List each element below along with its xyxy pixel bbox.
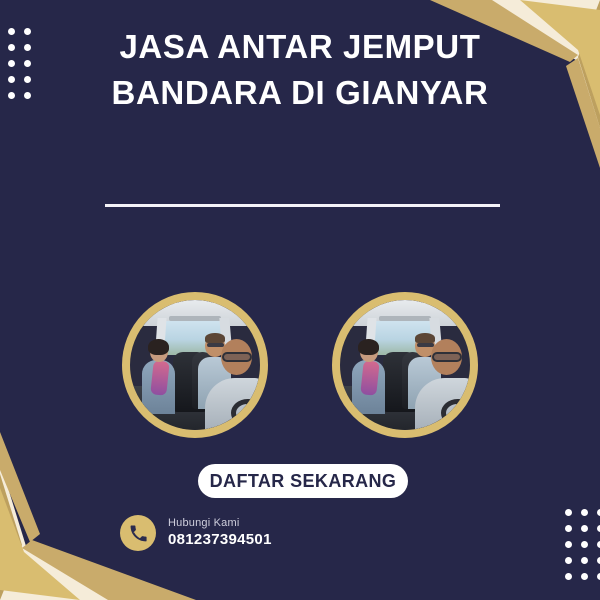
ribbon-bottom-left-gold-dark — [0, 474, 22, 600]
passenger-man-glasses — [207, 343, 224, 347]
dot — [565, 541, 572, 548]
passenger-woman-hair — [358, 339, 379, 355]
dot — [565, 573, 572, 580]
contact-text: Hubungi Kami 081237394501 — [168, 517, 272, 550]
steering-wheel — [231, 399, 260, 428]
photo-circle-left — [122, 292, 268, 438]
dot — [565, 557, 572, 564]
ribbon-top-right-gold-light — [520, 0, 600, 115]
passenger-man-glasses — [417, 343, 434, 347]
dot — [24, 76, 31, 83]
ribbon-top-right-gold-dark — [578, 0, 600, 128]
register-now-button[interactable]: DAFTAR SEKARANG — [198, 464, 408, 498]
dot — [8, 60, 15, 67]
phone-icon[interactable] — [120, 515, 156, 551]
title-divider — [105, 204, 500, 207]
page-title: JASA ANTAR JEMPUT BANDARA DI GIANYAR — [100, 24, 500, 116]
photo-circle-right — [332, 292, 478, 438]
steering-wheel — [441, 399, 470, 428]
dot — [581, 541, 588, 548]
dot — [8, 76, 15, 83]
dot — [565, 509, 572, 516]
dot — [24, 92, 31, 99]
photo-image-right — [340, 300, 470, 430]
contact-phone-number[interactable]: 081237394501 — [168, 531, 272, 550]
dot — [24, 44, 31, 51]
contact-block[interactable]: Hubungi Kami 081237394501 — [120, 515, 272, 551]
driver-glasses — [432, 352, 462, 362]
dot — [8, 28, 15, 35]
dot — [581, 509, 588, 516]
dot — [565, 525, 572, 532]
dot — [581, 557, 588, 564]
dot — [8, 92, 15, 99]
dot — [581, 525, 588, 532]
ribbon-bottom-left-gold-light — [0, 488, 80, 600]
dot — [8, 44, 15, 51]
passenger-man-hair — [415, 333, 435, 343]
photo-image-left — [130, 300, 260, 430]
dot-grid-bottom-right — [565, 509, 600, 580]
ribbon-top-right-tail — [566, 58, 600, 168]
passenger-man-hair — [205, 333, 225, 343]
dot — [24, 28, 31, 35]
contact-label: Hubungi Kami — [168, 517, 272, 531]
driver-glasses — [222, 352, 252, 362]
dot-grid-top-left — [8, 28, 31, 99]
ribbon-bottom-left-tail — [0, 432, 40, 542]
dot — [24, 60, 31, 67]
dot — [581, 573, 588, 580]
passenger-woman-hair — [148, 339, 169, 355]
poster-canvas: JASA ANTAR JEMPUT BANDARA DI GIANYAR — [0, 0, 600, 600]
